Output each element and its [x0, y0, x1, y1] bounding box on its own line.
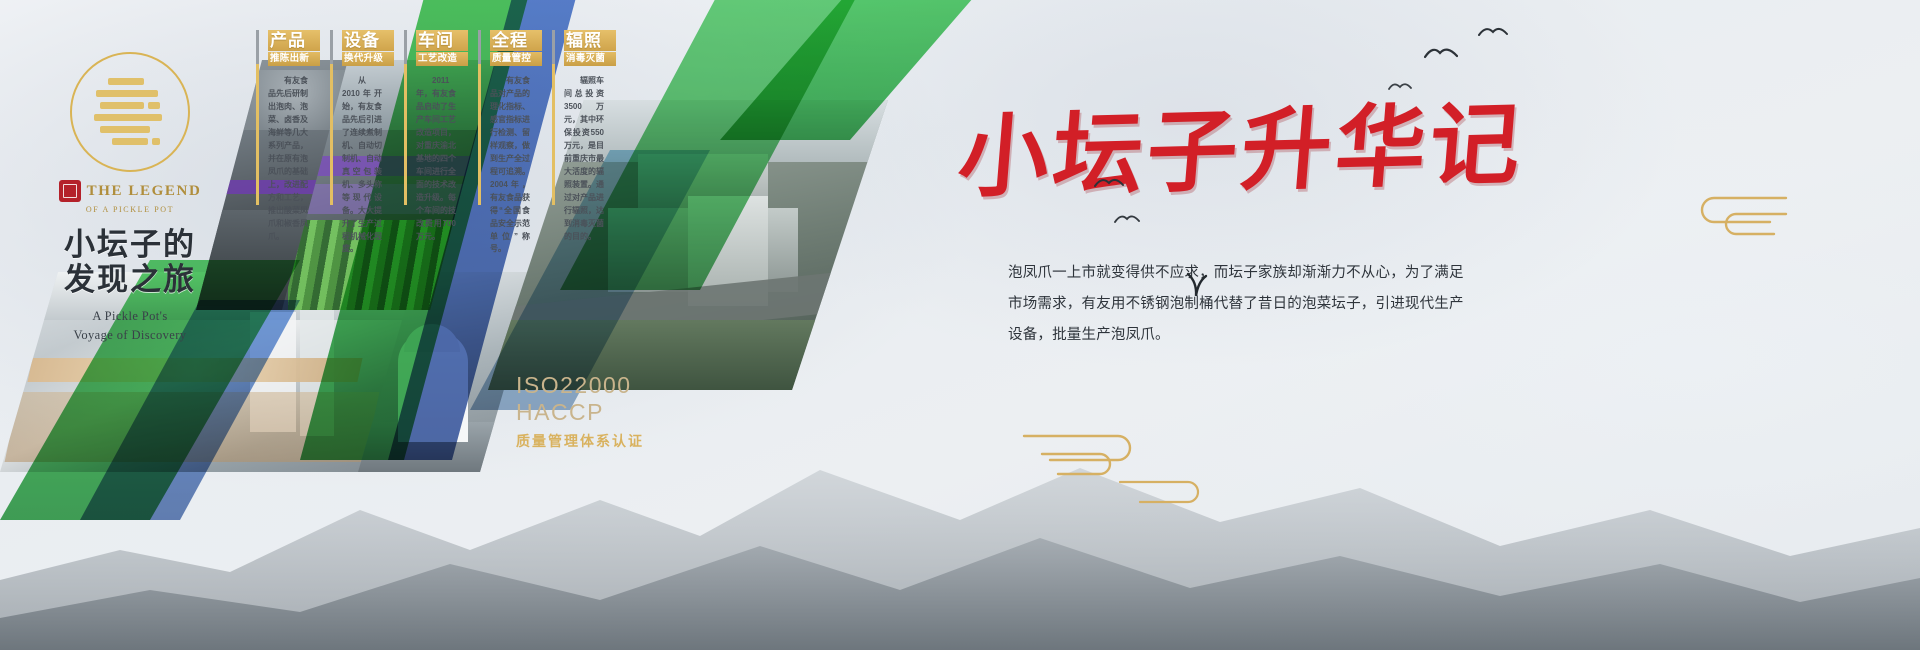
cloud-swirl-icon — [1118, 472, 1214, 512]
brand-name-en-sub: OF A PICKLE POT — [40, 205, 220, 214]
brand-wordmark: THE LEGEND — [40, 180, 220, 202]
intro-paragraph: 泡凤爪一上市就变得供不应求，而坛子家族却渐渐力不从心，为了满足市场需求，有友用不… — [1008, 258, 1476, 352]
iso-standard-line-3: 质量管理体系认证 — [516, 431, 644, 451]
bird-icon — [1186, 272, 1208, 298]
info-columns: 产品推陈出新有友食品先后研制出泡肉、泡菜、卤香及海鲜等几大系列产品，并在原有泡凤… — [256, 30, 604, 210]
info-column-2: 设备换代升级从2010年开始，有友食品先后引进了连续煮制机、自动切制机、自动真空… — [330, 30, 382, 210]
info-column-3: 车间工艺改造2011年，有友食品启动了生产车间工艺改造项目，对重庆渝北基地的四个… — [404, 30, 456, 210]
bird-icon — [1094, 175, 1124, 189]
bird-icon — [1114, 212, 1140, 225]
page-title: 小坛子升华记 — [954, 71, 1506, 214]
column-body: 有友食品对产品的理化指标、感官指标进行检测、留样观察，做到生产全过程可追溯。20… — [490, 75, 530, 256]
red-seal-icon — [59, 180, 81, 202]
column-rail — [404, 30, 407, 205]
column-subtitle: 换代升级 — [342, 52, 394, 66]
info-column-4: 全程质量管控有友食品对产品的理化指标、感官指标进行检测、留样观察，做到生产全过程… — [478, 30, 530, 210]
iso-certification-badge: ISO22000 HACCP 质量管理体系认证 — [516, 372, 644, 451]
info-column-5: 辐照消毒灭菌辐照车间总投资3500万元，其中环保投资550万元，是目前重庆市最大… — [552, 30, 604, 210]
column-title: 产品 — [268, 30, 320, 51]
column-subtitle: 推陈出新 — [268, 52, 320, 66]
column-heading: 设备换代升级 — [342, 30, 394, 66]
column-subtitle: 消毒灭菌 — [564, 52, 616, 66]
bird-icon — [1388, 80, 1412, 92]
bird-icon — [1478, 24, 1508, 38]
brand-title-en: A Pickle Pot'sVoyage of Discovery — [40, 307, 220, 343]
column-rail — [256, 30, 259, 205]
iso-standard-line-1: ISO22000 — [516, 372, 644, 399]
column-rail — [330, 30, 333, 205]
column-heading: 辐照消毒灭菌 — [564, 30, 616, 66]
iso-standard-line-2: HACCP — [516, 399, 644, 426]
column-heading: 产品推陈出新 — [268, 30, 320, 66]
column-heading: 全程质量管控 — [490, 30, 542, 66]
pickle-pot-seal-icon — [70, 52, 190, 172]
bird-icon — [1424, 44, 1458, 60]
cloud-swirl-icon — [1678, 190, 1788, 244]
brand-logo-block: THE LEGEND OF A PICKLE POT 小坛子的发现之旅 A Pi… — [40, 52, 220, 344]
column-body: 从2010年开始，有友食品先后引进了连续煮制机、自动切制机、自动真空包装机、多头… — [342, 75, 382, 256]
brand-name-en: THE LEGEND — [87, 183, 202, 200]
column-rail — [552, 30, 555, 205]
column-title: 设备 — [342, 30, 394, 51]
column-subtitle: 质量管控 — [490, 52, 542, 66]
column-body: 有友食品先后研制出泡肉、泡菜、卤香及海鲜等几大系列产品，并在原有泡凤爪的基础上，… — [268, 75, 308, 243]
column-heading: 车间工艺改造 — [416, 30, 468, 66]
column-title: 辐照 — [564, 30, 616, 51]
column-rail — [478, 30, 481, 205]
column-subtitle: 工艺改造 — [416, 52, 468, 66]
poster-stage: THE LEGEND OF A PICKLE POT 小坛子的发现之旅 A Pi… — [0, 0, 1920, 650]
column-title: 车间 — [416, 30, 468, 51]
column-body: 2011年，有友食品启动了生产车间工艺改造项目，对重庆渝北基地的四个车间进行全面… — [416, 75, 456, 243]
column-title: 全程 — [490, 30, 542, 51]
info-column-1: 产品推陈出新有友食品先后研制出泡肉、泡菜、卤香及海鲜等几大系列产品，并在原有泡凤… — [256, 30, 308, 210]
brand-title-cn: 小坛子的发现之旅 — [40, 228, 220, 297]
column-body: 辐照车间总投资3500万元，其中环保投资550万元，是目前重庆市最大活度的辐照装… — [564, 75, 604, 243]
